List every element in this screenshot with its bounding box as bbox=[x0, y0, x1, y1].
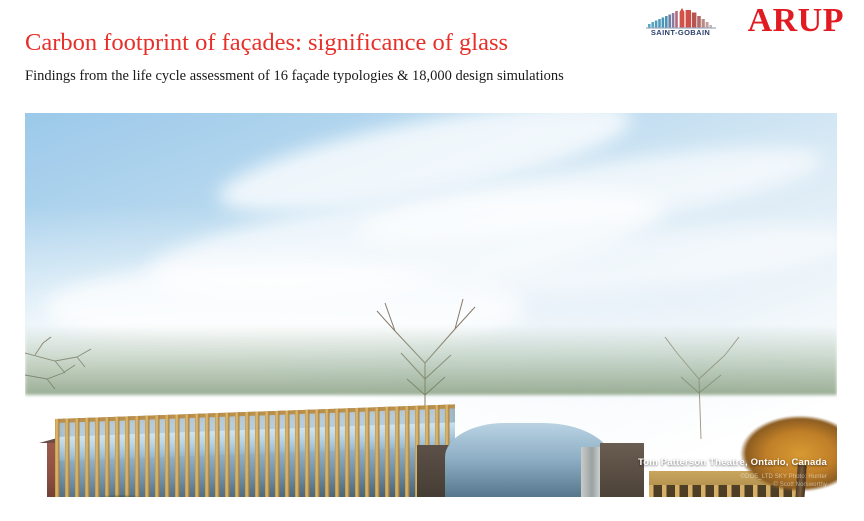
saint-gobain-wordmark: SAINT-GOBAIN bbox=[651, 28, 710, 38]
photo-credit-line-2: © Scott Norsworthy bbox=[740, 481, 827, 489]
gold-fins bbox=[55, 404, 455, 497]
arup-wordmark: ARUP bbox=[748, 4, 844, 40]
photo-credit: ©DOE_LTD SKY Photo: Hunter © Scott Norsw… bbox=[740, 473, 827, 489]
page-title: Carbon footprint of façades: significanc… bbox=[25, 29, 508, 57]
distant-treeline bbox=[25, 325, 837, 395]
stone-core-wall bbox=[600, 443, 644, 497]
hero-photo: Tom Patterson Theatre, Ontario, Canada ©… bbox=[25, 113, 837, 497]
photo-credit-line-1: ©DOE_LTD SKY Photo: Hunter bbox=[740, 473, 827, 481]
hedge bbox=[65, 489, 175, 497]
photo-caption: Tom Patterson Theatre, Ontario, Canada bbox=[638, 457, 827, 469]
saint-gobain-skyline-icon bbox=[646, 7, 716, 29]
saint-gobain-logo: SAINT-GOBAIN bbox=[640, 7, 722, 38]
page-subtitle: Findings from the life cycle assessment … bbox=[25, 67, 564, 86]
slide-header: SAINT-GOBAIN ARUP Carbon footprint of fa… bbox=[0, 0, 864, 113]
building-glass-block bbox=[55, 404, 455, 497]
logo-bar: SAINT-GOBAIN ARUP bbox=[640, 4, 844, 40]
